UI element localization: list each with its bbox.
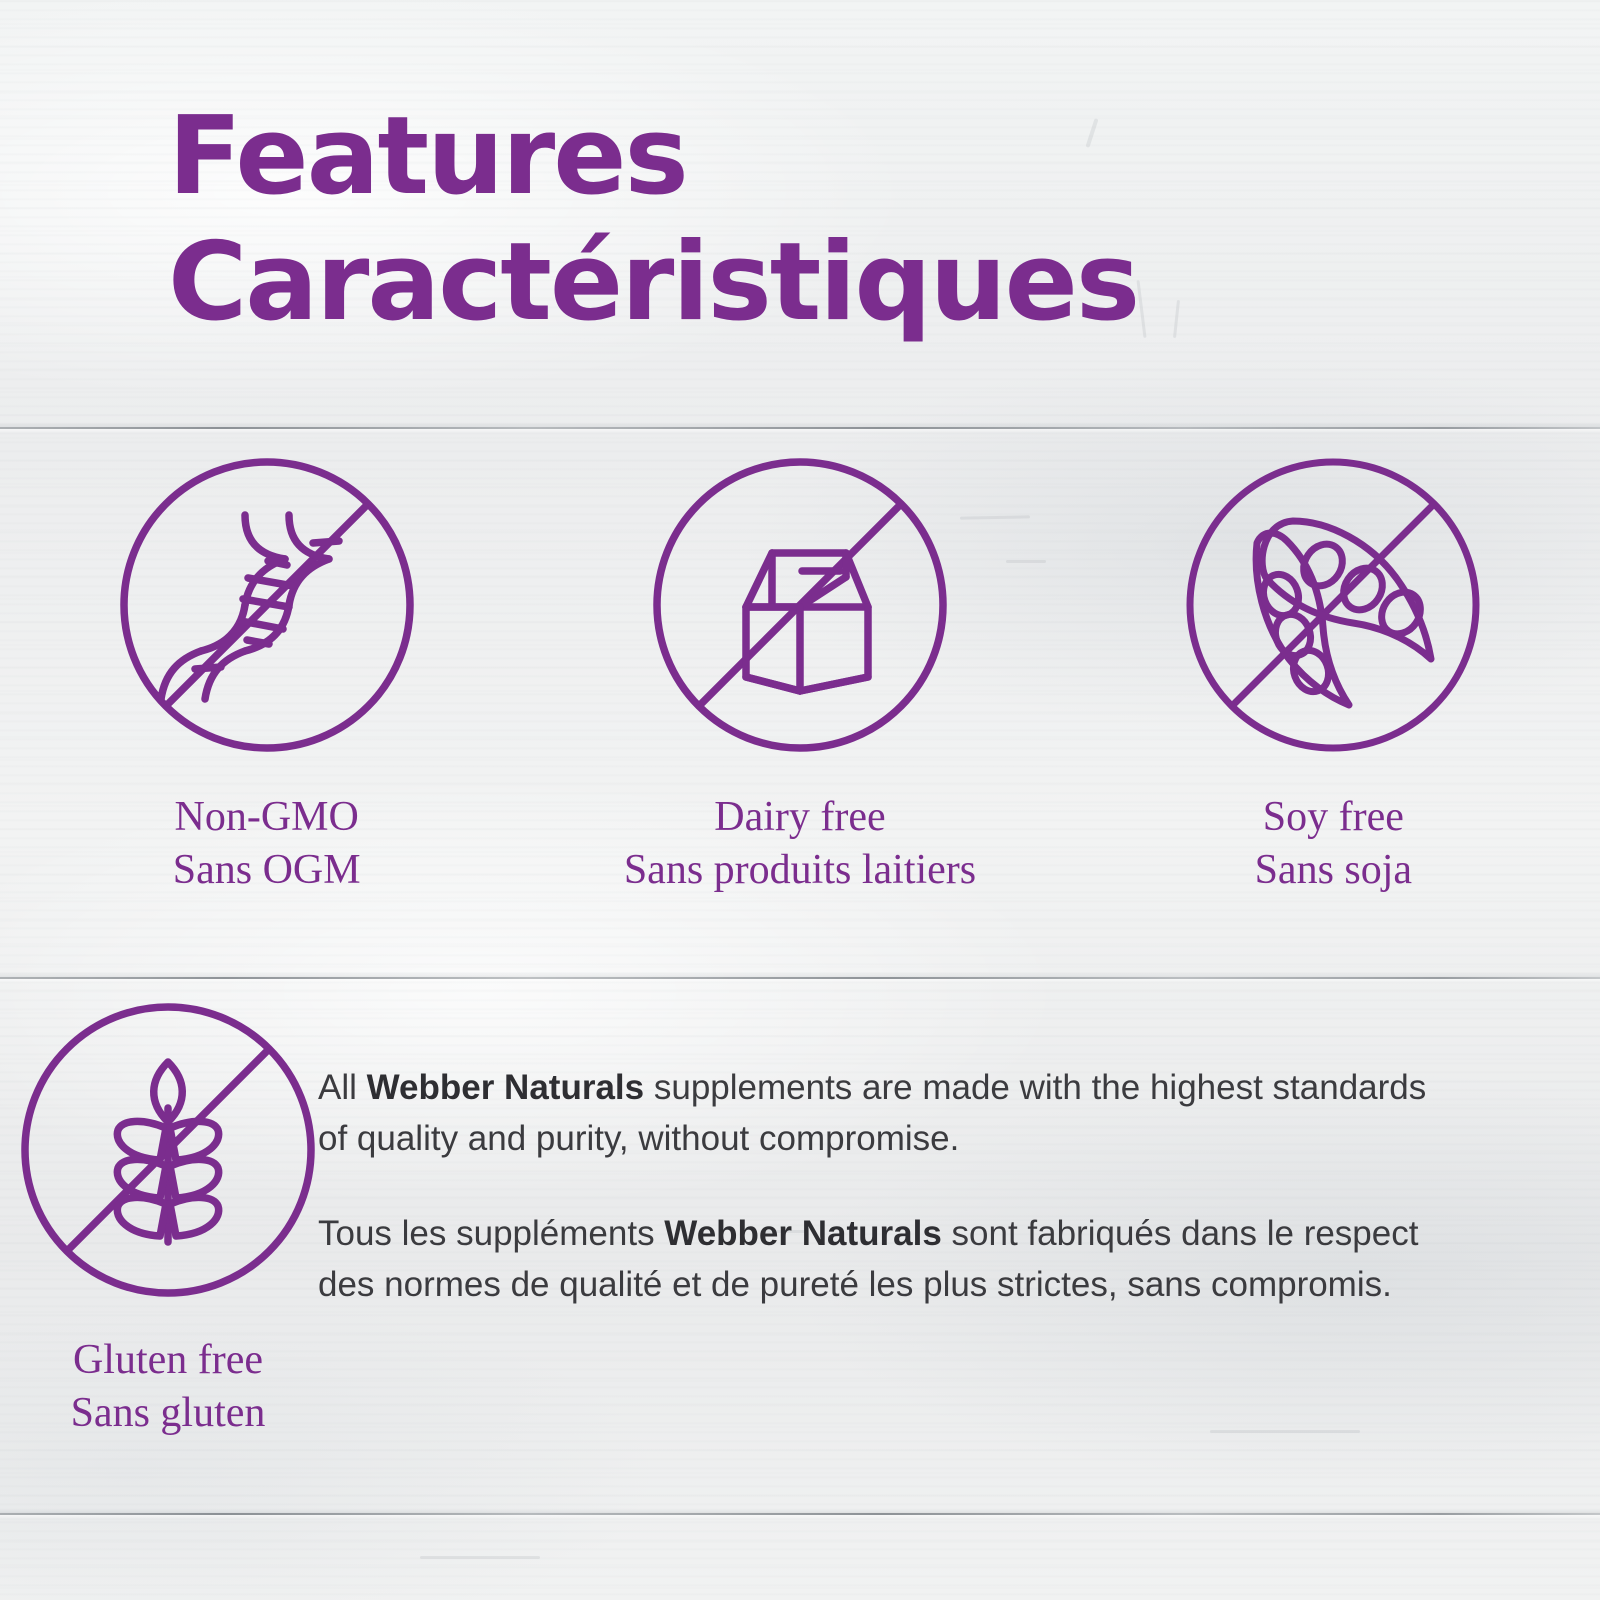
plank-seam-3 [0, 1512, 1600, 1516]
feature-labels: Dairy free Sans produits laitiers [624, 791, 976, 897]
copy-fr-lead: Tous les suppléments [318, 1214, 664, 1253]
feature-labels: Non-GMO Sans OGM [173, 791, 361, 897]
no-gluten-wheat-icon [18, 1000, 318, 1300]
page-title-french: Caractéristiques [168, 230, 1428, 336]
page-title-english: Features [168, 104, 1428, 210]
feature-label-fr: Sans soja [1255, 844, 1413, 897]
feature-labels: Soy free Sans soja [1255, 791, 1413, 897]
feature-dairy-free: Dairy free Sans produits laitiers [533, 455, 1066, 897]
bottom-row: Gluten free Sans gluten All Webber Natur… [0, 1000, 1600, 1440]
brand-name-fr: Webber Naturals [664, 1214, 942, 1253]
feature-label-fr: Sans gluten [71, 1387, 266, 1440]
plank-seam-2 [0, 976, 1600, 980]
feature-gluten-free: Gluten free Sans gluten [0, 1000, 318, 1440]
copy-en-lead: All [318, 1068, 367, 1107]
feature-non-gmo: Non-GMO Sans OGM [0, 455, 533, 897]
feature-label-en: Non-GMO [173, 791, 361, 844]
feature-label-en: Gluten free [71, 1334, 266, 1387]
feature-soy-free: Soy free Sans soja [1067, 455, 1600, 897]
feature-label-en: Soy free [1255, 791, 1413, 844]
brand-copy: All Webber Naturals supplements are made… [318, 1000, 1600, 1310]
plank-seam-1 [0, 426, 1600, 430]
feature-panel: Features Caractéristiques [0, 0, 1600, 1600]
no-gmo-dna-icon [117, 455, 417, 755]
feature-icon-row: Non-GMO Sans OGM [0, 455, 1600, 897]
feature-label-fr: Sans produits laitiers [624, 844, 976, 897]
no-dairy-milk-carton-icon [650, 455, 950, 755]
feature-label-fr: Sans OGM [173, 844, 361, 897]
no-soy-pea-pods-icon [1183, 455, 1483, 755]
brand-copy-french: Tous les suppléments Webber Naturals son… [318, 1208, 1440, 1310]
page-title: Features Caractéristiques [168, 104, 1428, 336]
brand-copy-english: All Webber Naturals supplements are made… [318, 1062, 1440, 1164]
feature-label-en: Dairy free [624, 791, 976, 844]
feature-labels: Gluten free Sans gluten [71, 1334, 266, 1440]
brand-name-en: Webber Naturals [367, 1068, 645, 1107]
wood-grain-fleck [420, 1556, 540, 1559]
